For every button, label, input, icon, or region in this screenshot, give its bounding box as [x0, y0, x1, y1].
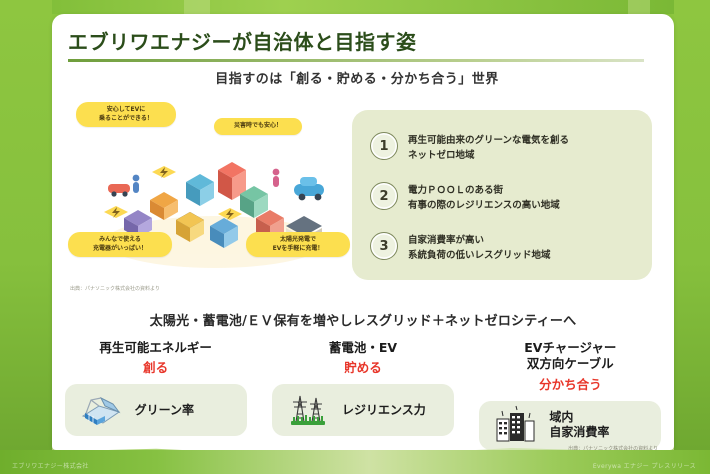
goal-line-2: 系統負荷の低いレスグリッド地域 — [408, 249, 551, 264]
header: エブリワエナジーが自治体と目指す姿 — [68, 26, 658, 62]
watermark-left: エブリワエナジー株式会社 — [12, 461, 89, 470]
goal-number-badge: 1 — [370, 132, 398, 160]
pillar-column-share: EVチャージャー双方向ケーブル 分かち合う — [467, 340, 674, 450]
page-title: エブリワエナジーが自治体と目指す姿 — [68, 26, 658, 55]
solar-house-icon — [75, 390, 127, 430]
illustration-credit: 出典：パナソニック株式会社の資料より — [70, 285, 160, 292]
goal-number-badge: 2 — [370, 182, 398, 210]
goal-number-badge: 3 — [370, 232, 398, 260]
right-green-band — [674, 0, 710, 474]
metric-chip-label: レジリエンス力 — [342, 403, 426, 418]
pillar-column-create: 再生可能エネルギー 創る グリーン率 — [52, 340, 259, 450]
slide-content-card: エブリワエナジーが自治体と目指す姿 目指すのは「創る・貯める・分かち合う」世界 — [52, 14, 674, 450]
callout-bubble-chargers: みんなで使える充電器がいっぱい！ — [68, 232, 172, 257]
mid-banner-text: 太陽光・蓄電池/ＥＶ保有を増やしレスグリッド＋ネットゼロシティーへ — [52, 310, 674, 329]
metric-chip-resilience: レジリエンス力 — [272, 384, 454, 436]
pillar-action: 分かち合う — [539, 374, 602, 393]
goal-item-3: 3 自家消費率が高い 系統負荷の低いレスグリッド地域 — [370, 232, 551, 263]
page-subtitle: 目指すのは「創る・貯める・分かち合う」世界 — [142, 68, 572, 87]
metric-chip-label: グリーン率 — [135, 403, 194, 418]
pillar-heading: 蓄電池・EV — [329, 340, 397, 356]
goal-line-2: 有事の際のレジリエンスの高い地域 — [408, 199, 560, 214]
power-pylon-icon — [282, 390, 334, 430]
goal-text: 電力ＰＯＯＬのある街 有事の際のレジリエンスの高い地域 — [408, 182, 560, 213]
top-green-band — [0, 0, 710, 14]
callout-bubble-solar-charge: 太陽光発電でEVを手軽に充電！ — [246, 232, 350, 257]
goals-panel: 1 再生可能由来のグリーンな電気を創る ネットゼロ地域 2 電力ＰＯＯＬのある街… — [352, 110, 652, 280]
pillar-heading: EVチャージャー双方向ケーブル — [524, 340, 616, 373]
goal-line-1: 自家消費率が高い — [408, 234, 551, 249]
callout-bubble-disaster-safe: 災害時でも安心！ — [214, 118, 302, 135]
left-green-band — [0, 0, 52, 474]
goal-line-1: 再生可能由来のグリーンな電気を創る — [408, 134, 569, 149]
three-pillar-columns: 再生可能エネルギー 創る グリーン率 — [52, 340, 674, 450]
pillar-heading: 再生可能エネルギー — [99, 340, 212, 356]
buildings-icon — [489, 405, 541, 445]
goal-item-2: 2 電力ＰＯＯＬのある街 有事の際のレジリエンスの高い地域 — [370, 182, 560, 213]
pillar-action: 創る — [143, 357, 168, 376]
goal-item-1: 1 再生可能由来のグリーンな電気を創る ネットゼロ地域 — [370, 132, 569, 163]
watermark-right: Everywa エナジー プレスリリース — [593, 461, 696, 470]
metric-chip-label: 域内自家消費率 — [549, 410, 609, 440]
goal-line-2: ネットゼロ地域 — [408, 149, 569, 164]
metric-chip-green-rate: グリーン率 — [65, 384, 247, 436]
goal-line-1: 電力ＰＯＯＬのある街 — [408, 184, 560, 199]
slide-root: エブリワエナジーが自治体と目指す姿 目指すのは「創る・貯める・分かち合う」世界 — [0, 0, 710, 474]
callout-bubble-ev-safe: 安心してEVに乗ることができる！ — [76, 102, 176, 127]
goal-text: 自家消費率が高い 系統負荷の低いレスグリッド地域 — [408, 232, 551, 263]
goal-text: 再生可能由来のグリーンな電気を創る ネットゼロ地域 — [408, 132, 569, 163]
title-underline — [68, 59, 644, 62]
pillar-column-store: 蓄電池・EV 貯める — [259, 340, 466, 450]
pillar-action: 貯める — [344, 357, 382, 376]
metric-chip-self-consumption: 域内自家消費率 — [479, 401, 661, 451]
city-illustration: 安心してEVに乗ることができる！ 災害時でも安心！ みんなで使える充電器がいっぱ… — [62, 96, 374, 294]
